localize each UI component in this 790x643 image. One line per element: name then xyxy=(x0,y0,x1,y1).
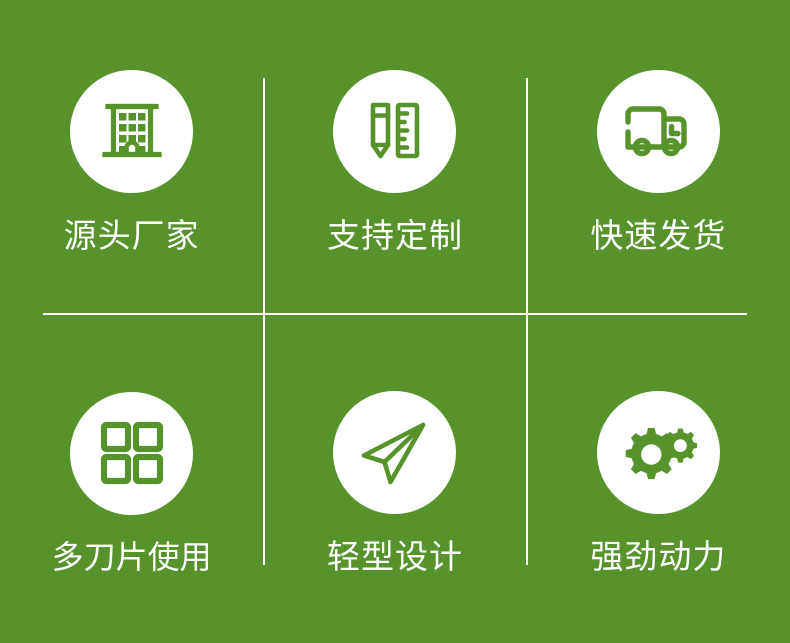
grid-squares-icon xyxy=(70,392,193,515)
feature-cell-source-factory[interactable]: 源头厂家 xyxy=(0,0,263,322)
feature-grid: 源头厂家 xyxy=(0,0,790,643)
feature-cell-custom-support[interactable]: 支持定制 xyxy=(263,0,526,322)
feature-label: 支持定制 xyxy=(327,219,463,252)
feature-label: 快速发货 xyxy=(590,219,726,252)
pencil-ruler-icon xyxy=(333,70,456,193)
feature-label: 源头厂家 xyxy=(64,219,200,252)
feature-cell-lightweight-design[interactable]: 轻型设计 xyxy=(263,322,526,643)
feature-cell-fast-shipping[interactable]: 快速发货 xyxy=(527,0,790,322)
gears-icon xyxy=(597,391,720,514)
feature-label: 强劲动力 xyxy=(590,540,726,573)
feature-banner: 源头厂家 xyxy=(0,0,790,643)
feature-label: 轻型设计 xyxy=(327,540,463,573)
feature-cell-multi-blade[interactable]: 多刀片使用 xyxy=(0,322,263,643)
feature-cell-strong-power[interactable]: 强劲动力 xyxy=(527,322,790,643)
feature-label: 多刀片使用 xyxy=(52,541,212,573)
paper-plane-icon xyxy=(333,391,456,514)
delivery-truck-icon xyxy=(597,70,720,193)
building-icon xyxy=(70,70,193,193)
